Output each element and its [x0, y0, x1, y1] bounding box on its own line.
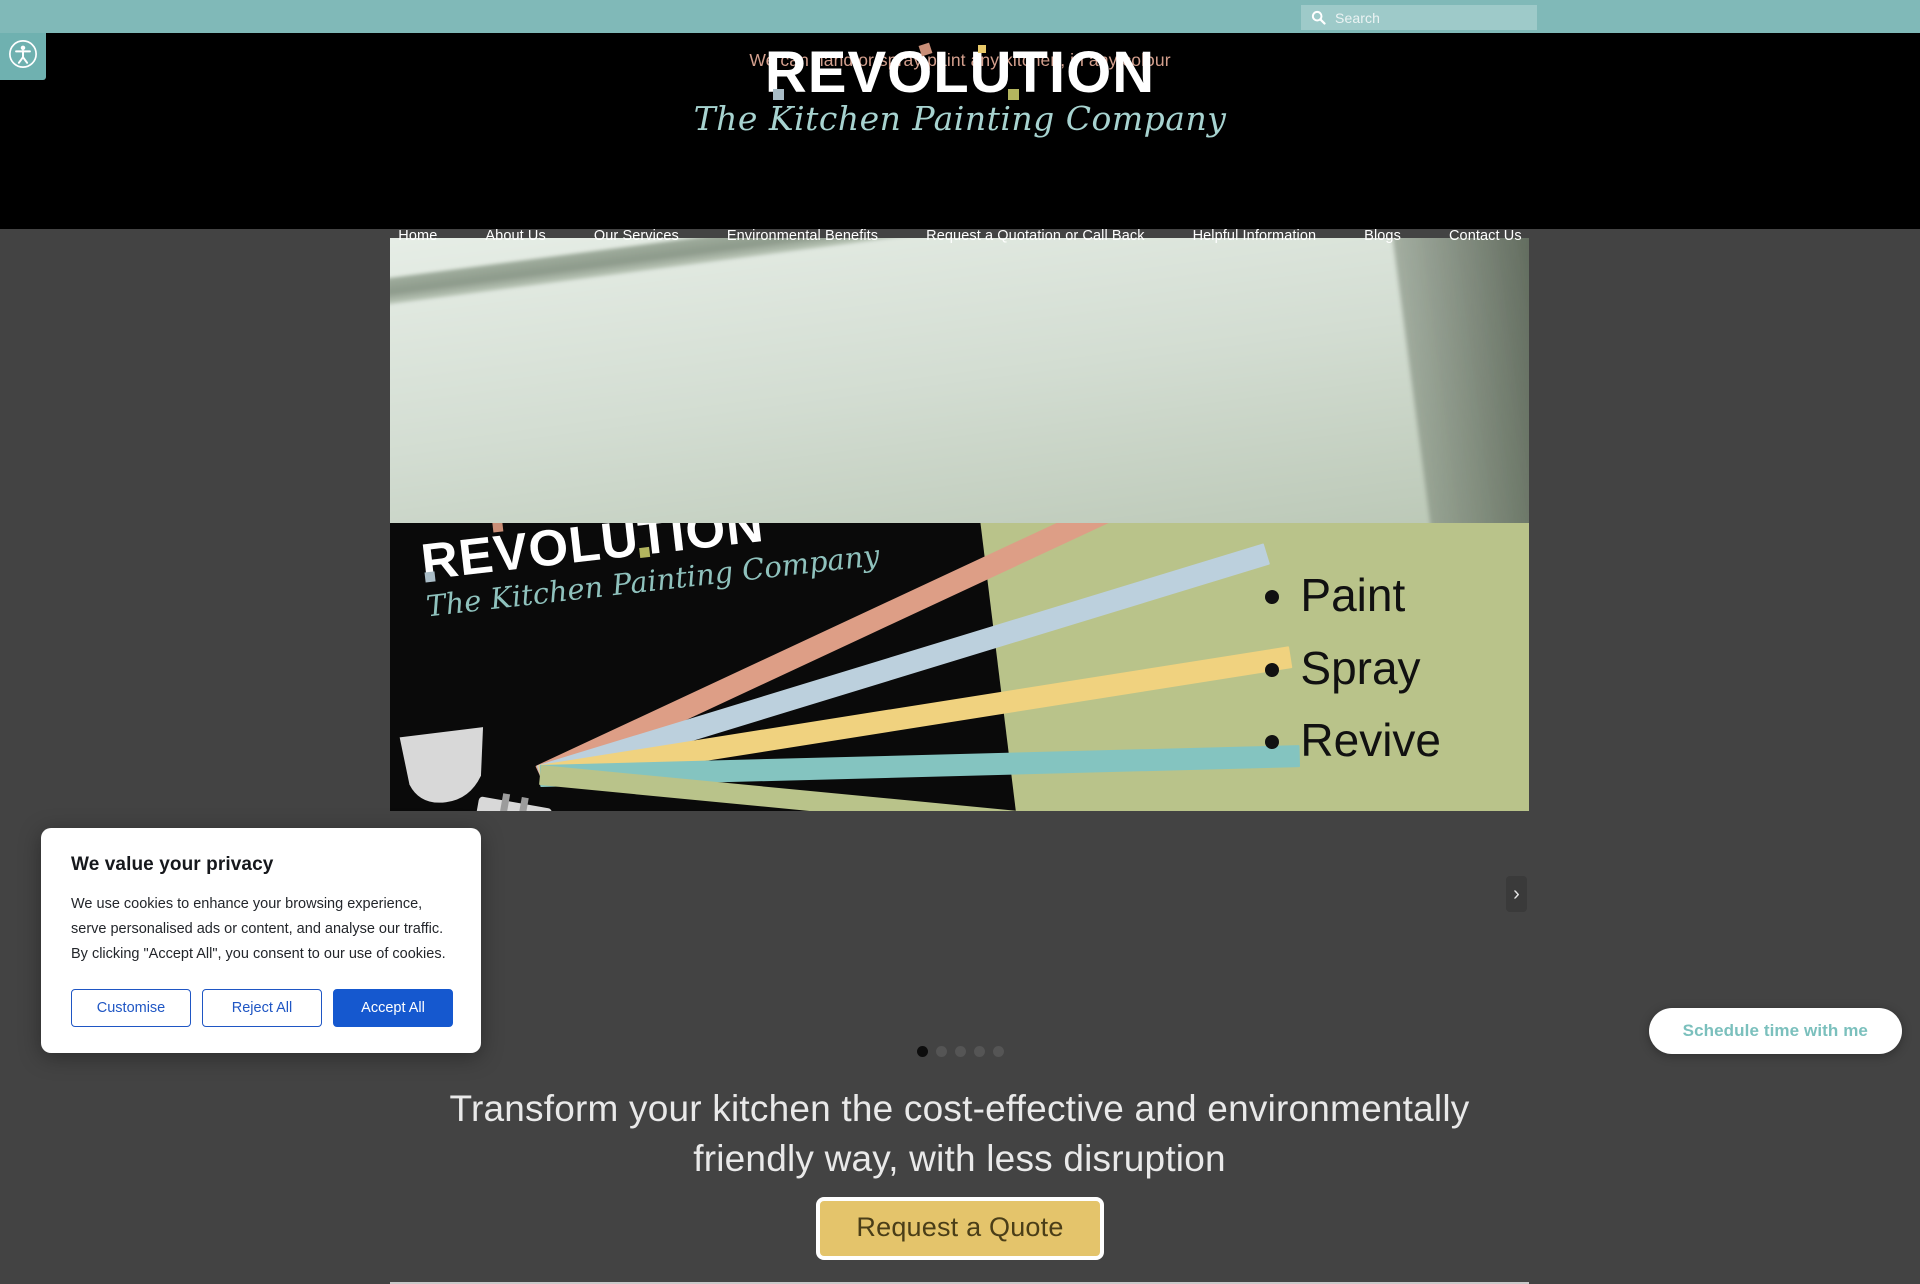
logo-accent-square-olive — [1008, 89, 1019, 100]
nav-item-about-us[interactable]: About Us — [461, 222, 569, 250]
nav-item-home[interactable]: Home — [374, 222, 461, 250]
nav-item-blogs[interactable]: Blogs — [1340, 222, 1425, 250]
slider-dot-3[interactable] — [955, 1046, 966, 1057]
accessibility-person-icon — [8, 39, 38, 74]
cookie-accept-all-button[interactable]: Accept All — [333, 989, 453, 1027]
logo-wordmark: REVOLUTION — [765, 43, 1155, 103]
slider-dot-1[interactable] — [917, 1046, 928, 1057]
bullet-paint: Paint — [1300, 559, 1441, 632]
logo-tagline-script: The Kitchen Painting Company — [0, 99, 1920, 138]
cookie-body: We use cookies to enhance your browsing … — [71, 892, 453, 967]
banner-accent-square-salmon — [492, 523, 503, 532]
bullet-revive: Revive — [1300, 704, 1441, 777]
banner-accent-square-olive — [639, 547, 650, 558]
banner-accent-square-bluegrey — [425, 571, 436, 582]
cookie-consent-dialog: We value your privacy We use cookies to … — [41, 828, 481, 1053]
logo-accent-square-gold — [978, 45, 986, 53]
nav-item-request-quotation[interactable]: Request a Quotation or Call Back — [902, 222, 1168, 250]
cookie-customise-button[interactable]: Customise — [71, 989, 191, 1027]
logo-word-text: REVOLUTION — [765, 40, 1155, 105]
schedule-time-button[interactable]: Schedule time with me — [1649, 1008, 1902, 1054]
hero-headline: Transform your kitchen the cost-effectiv… — [390, 1084, 1529, 1185]
logo-accent-square-bluegrey — [773, 89, 784, 100]
search-input[interactable] — [1335, 10, 1525, 26]
cookie-reject-all-button[interactable]: Reject All — [202, 989, 322, 1027]
slide-photo-kitchen-door — [390, 238, 1529, 523]
bullet-spray: Spray — [1300, 632, 1441, 705]
cookie-actions: Customise Reject All Accept All — [71, 989, 453, 1027]
nav-item-contact-us[interactable]: Contact Us — [1425, 222, 1546, 250]
search-icon — [1311, 10, 1326, 25]
search-box[interactable] — [1301, 5, 1537, 30]
paint-spray-rays — [540, 681, 1340, 811]
site-header: REVOLUTION The Kitchen Painting Company … — [0, 33, 1920, 229]
primary-navigation: Home About Us Our Services Environmental… — [0, 222, 1920, 250]
slider-dot-5[interactable] — [993, 1046, 1004, 1057]
request-a-quote-button[interactable]: Request a Quote — [816, 1197, 1103, 1260]
slide-banner-services: REVOLUTION The Kitchen Painting Company — [390, 523, 1529, 811]
service-bullets: Paint Spray Revive — [1260, 559, 1441, 777]
nav-item-helpful-information[interactable]: Helpful Information — [1169, 222, 1341, 250]
hero-cta-wrap: Request a Quote — [0, 1197, 1920, 1260]
top-utility-bar — [0, 0, 1920, 33]
logo[interactable]: REVOLUTION The Kitchen Painting Company — [0, 33, 1920, 138]
photo-edge-shadow — [1392, 238, 1529, 523]
slider-next-button[interactable]: › — [1506, 876, 1527, 912]
nav-item-environmental-benefits[interactable]: Environmental Benefits — [703, 222, 902, 250]
nav-item-our-services[interactable]: Our Services — [570, 222, 703, 250]
cookie-title: We value your privacy — [71, 854, 453, 876]
slider-dot-4[interactable] — [974, 1046, 985, 1057]
chevron-right-icon: › — [1513, 883, 1520, 906]
slider-dot-2[interactable] — [936, 1046, 947, 1057]
accessibility-button[interactable] — [0, 33, 46, 80]
hero-slider[interactable]: REVOLUTION The Kitchen Painting Company — [390, 238, 1529, 811]
